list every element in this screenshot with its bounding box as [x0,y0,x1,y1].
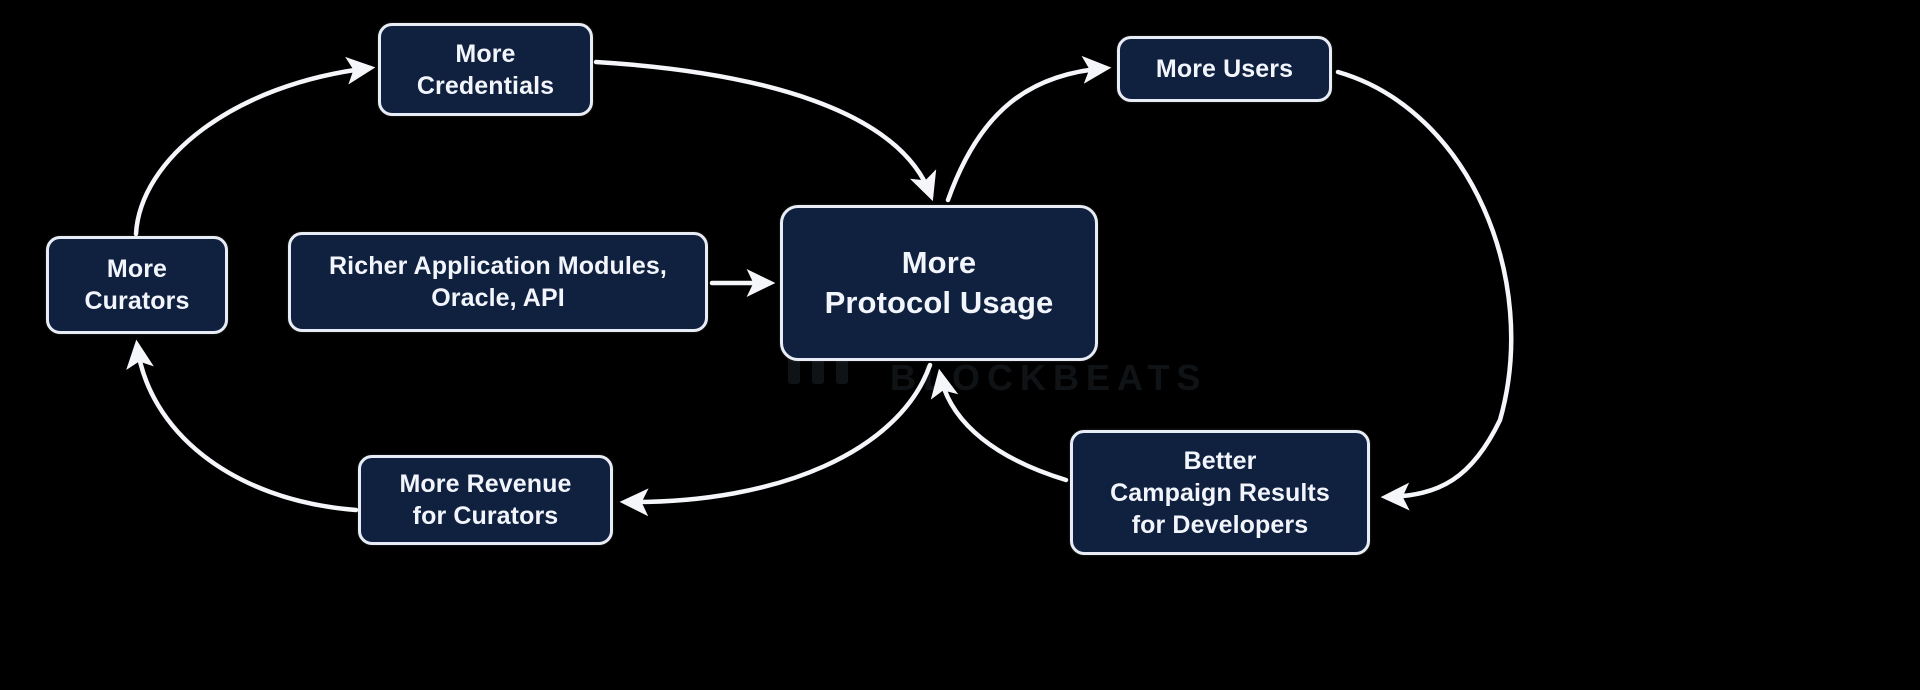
node-more-credentials-label: More Credentials [417,38,554,102]
node-more-protocol-usage-label: More Protocol Usage [825,243,1054,322]
node-more-users-label: More Users [1156,53,1293,85]
node-more-revenue-for-curators-label: More Revenue for Curators [399,468,571,532]
node-more-protocol-usage[interactable]: More Protocol Usage [780,205,1098,361]
node-better-campaign-results[interactable]: Better Campaign Results for Developers [1070,430,1370,555]
node-more-users[interactable]: More Users [1117,36,1332,102]
node-more-curators-label: More Curators [85,253,190,317]
node-more-revenue-for-curators[interactable]: More Revenue for Curators [358,455,613,545]
edge-usage-to-revenue [625,365,930,502]
node-more-credentials[interactable]: More Credentials [378,23,593,116]
edge-revenue-to-curators [137,345,356,510]
node-better-campaign-results-label: Better Campaign Results for Developers [1110,445,1330,541]
diagram-canvas: 律动 BLOCKBEATS [0,0,1920,690]
edge-usage-to-users [948,68,1106,200]
node-more-curators[interactable]: More Curators [46,236,228,334]
node-richer-application-modules[interactable]: Richer Application Modules, Oracle, API [288,232,708,332]
watermark-brand: BLOCKBEATS [890,357,1207,398]
node-richer-application-modules-label: Richer Application Modules, Oracle, API [329,250,667,314]
edge-curators-to-credentials [136,68,370,234]
edge-campaign-to-usage [940,374,1066,480]
edge-credentials-to-usage [596,62,931,196]
